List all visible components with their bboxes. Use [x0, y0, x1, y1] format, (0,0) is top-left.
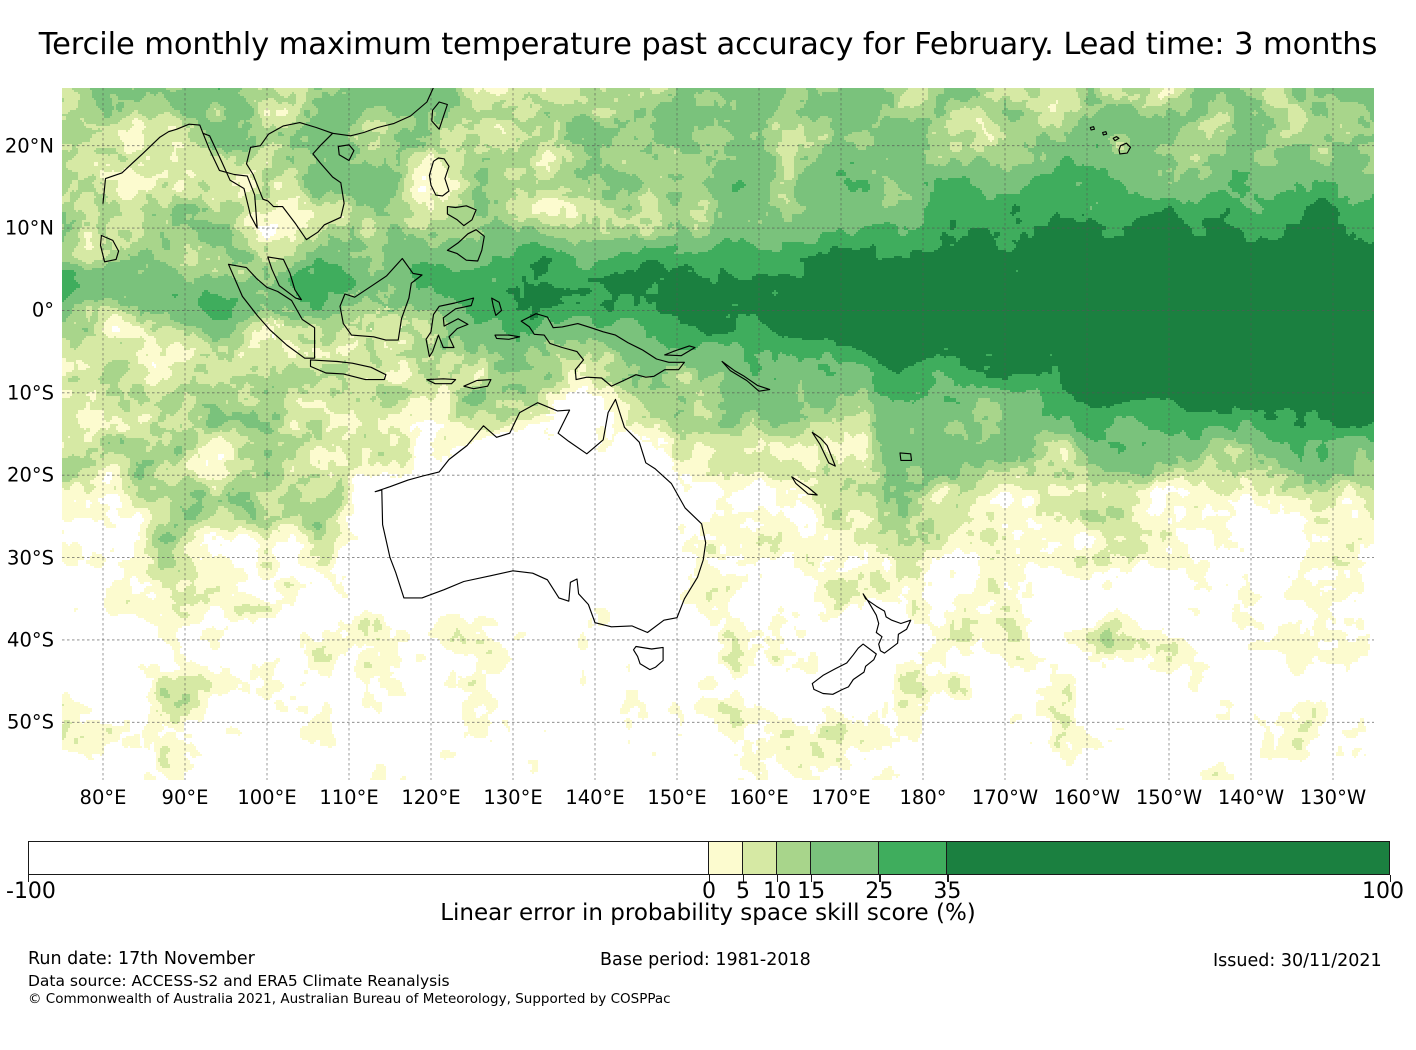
map-plot-area[interactable]: [62, 88, 1374, 780]
lat-tick-10°N: 10°N: [5, 218, 54, 238]
colorbar-segment-6: [947, 842, 1389, 874]
lat-tick-40°S: 40°S: [7, 630, 54, 650]
figure-canvas: Tercile monthly maximum temperature past…: [0, 0, 1416, 1050]
lat-tick-50°S: 50°S: [7, 713, 54, 733]
colorbar-tick-label-25: 25: [865, 881, 893, 903]
page-title: Tercile monthly maximum temperature past…: [39, 30, 1378, 61]
data-source-text: Data source: ACCESS-S2 and ERA5 Climate …: [28, 974, 450, 990]
lon-tick-90°E: 90°E: [162, 788, 209, 808]
coastline-overlay: [62, 88, 1374, 780]
base-period-text: Base period: 1981-2018: [600, 952, 811, 970]
lat-tick-10°S: 10°S: [7, 383, 54, 403]
colorbar-tick-label-0: 0: [702, 881, 716, 903]
lat-tick-20°S: 20°S: [7, 465, 54, 485]
colorbar-tick-label--100: -100: [6, 881, 56, 903]
lon-tick-150°W: 150°W: [1136, 788, 1202, 808]
colorbar-tick-label-10: 10: [763, 881, 791, 903]
lon-tick-140°W: 140°W: [1218, 788, 1284, 808]
lon-tick-130°E: 130°E: [483, 788, 542, 808]
lat-tick-30°S: 30°S: [7, 548, 54, 568]
lon-tick-170°E: 170°E: [811, 788, 870, 808]
lon-tick-160°E: 160°E: [729, 788, 788, 808]
lon-tick-80°E: 80°E: [80, 788, 127, 808]
lon-tick-140°E: 140°E: [565, 788, 624, 808]
colorbar-segment-1: [709, 842, 743, 874]
lat-tick-0°: 0°: [32, 301, 54, 321]
colorbar-segment-3: [777, 842, 811, 874]
colorbar-tick-label-15: 15: [797, 881, 825, 903]
colorbar-segment-2: [743, 842, 777, 874]
colorbar-tick-label-35: 35: [933, 881, 961, 903]
lat-tick-20°N: 20°N: [5, 136, 54, 156]
lon-tick-110°E: 110°E: [319, 788, 378, 808]
colorbar-segment-5: [879, 842, 947, 874]
colorbar-segments: [28, 841, 1390, 875]
lon-tick-180°: 180°: [900, 788, 947, 808]
run-date-text: Run date: 17th November: [28, 951, 255, 969]
issued-date-text: Issued: 30/11/2021: [1213, 953, 1382, 971]
colorbar-segment-4: [811, 842, 879, 874]
lon-tick-150°E: 150°E: [647, 788, 706, 808]
lon-tick-120°E: 120°E: [401, 788, 460, 808]
colorbar-tick-label-5: 5: [736, 881, 750, 903]
copyright-text: © Commonwealth of Australia 2021, Austra…: [28, 993, 671, 1007]
colorbar-tick-label-100: 100: [1362, 881, 1404, 903]
colorbar-segment-0: [29, 842, 709, 874]
colorbar-title: Linear error in probability space skill …: [440, 902, 976, 925]
lon-tick-170°W: 170°W: [972, 788, 1038, 808]
lon-tick-100°E: 100°E: [237, 788, 296, 808]
colorbar[interactable]: [28, 841, 1390, 875]
lon-tick-160°W: 160°W: [1054, 788, 1120, 808]
lon-tick-130°W: 130°W: [1300, 788, 1366, 808]
